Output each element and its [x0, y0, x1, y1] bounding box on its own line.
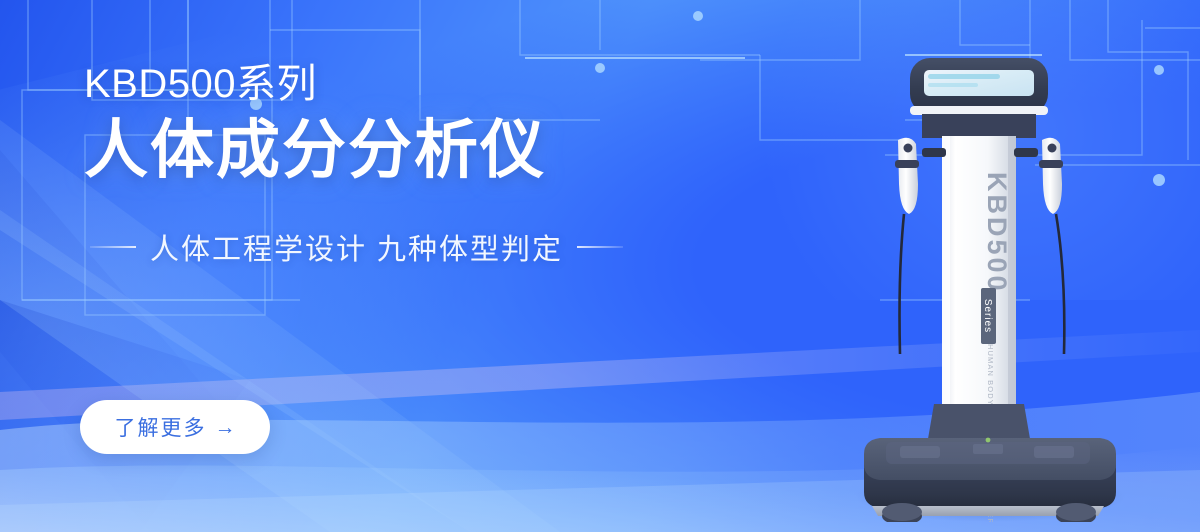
banner-subtitle-row: 人体工程学设计 九种体型判定	[90, 226, 724, 268]
device-base-platform	[864, 438, 1116, 522]
device-series-badge: Series	[982, 299, 993, 333]
banner-subtitle: 人体工程学设计 九种体型判定	[150, 226, 563, 268]
banner-headline: 人体成分分析仪	[84, 115, 724, 187]
device-brand-text: KBD500	[982, 172, 1012, 294]
product-image-body-composition-analyzer: KBD500 Series HUMAN BODY COMPOSITION ANA…	[838, 44, 1138, 522]
learn-more-label: 了解更多	[115, 412, 207, 442]
learn-more-button[interactable]: 了解更多 →	[80, 400, 270, 454]
device-illustration: KBD500 Series HUMAN BODY COMPOSITION ANA…	[838, 44, 1138, 522]
dash-right-icon	[577, 246, 623, 248]
arrow-right-icon: →	[215, 417, 236, 438]
product-banner: KBD500系列 人体成分分析仪 人体工程学设计 九种体型判定 了解更多 →	[0, 0, 1200, 532]
dash-left-icon	[90, 246, 136, 248]
device-display-head	[910, 58, 1048, 138]
banner-kicker: KBD500系列	[84, 62, 724, 107]
device-hand-grip-left	[895, 138, 946, 354]
banner-text-block: KBD500系列 人体成分分析仪 人体工程学设计 九种体型判定	[84, 62, 724, 268]
device-hand-grip-right	[1014, 138, 1064, 354]
